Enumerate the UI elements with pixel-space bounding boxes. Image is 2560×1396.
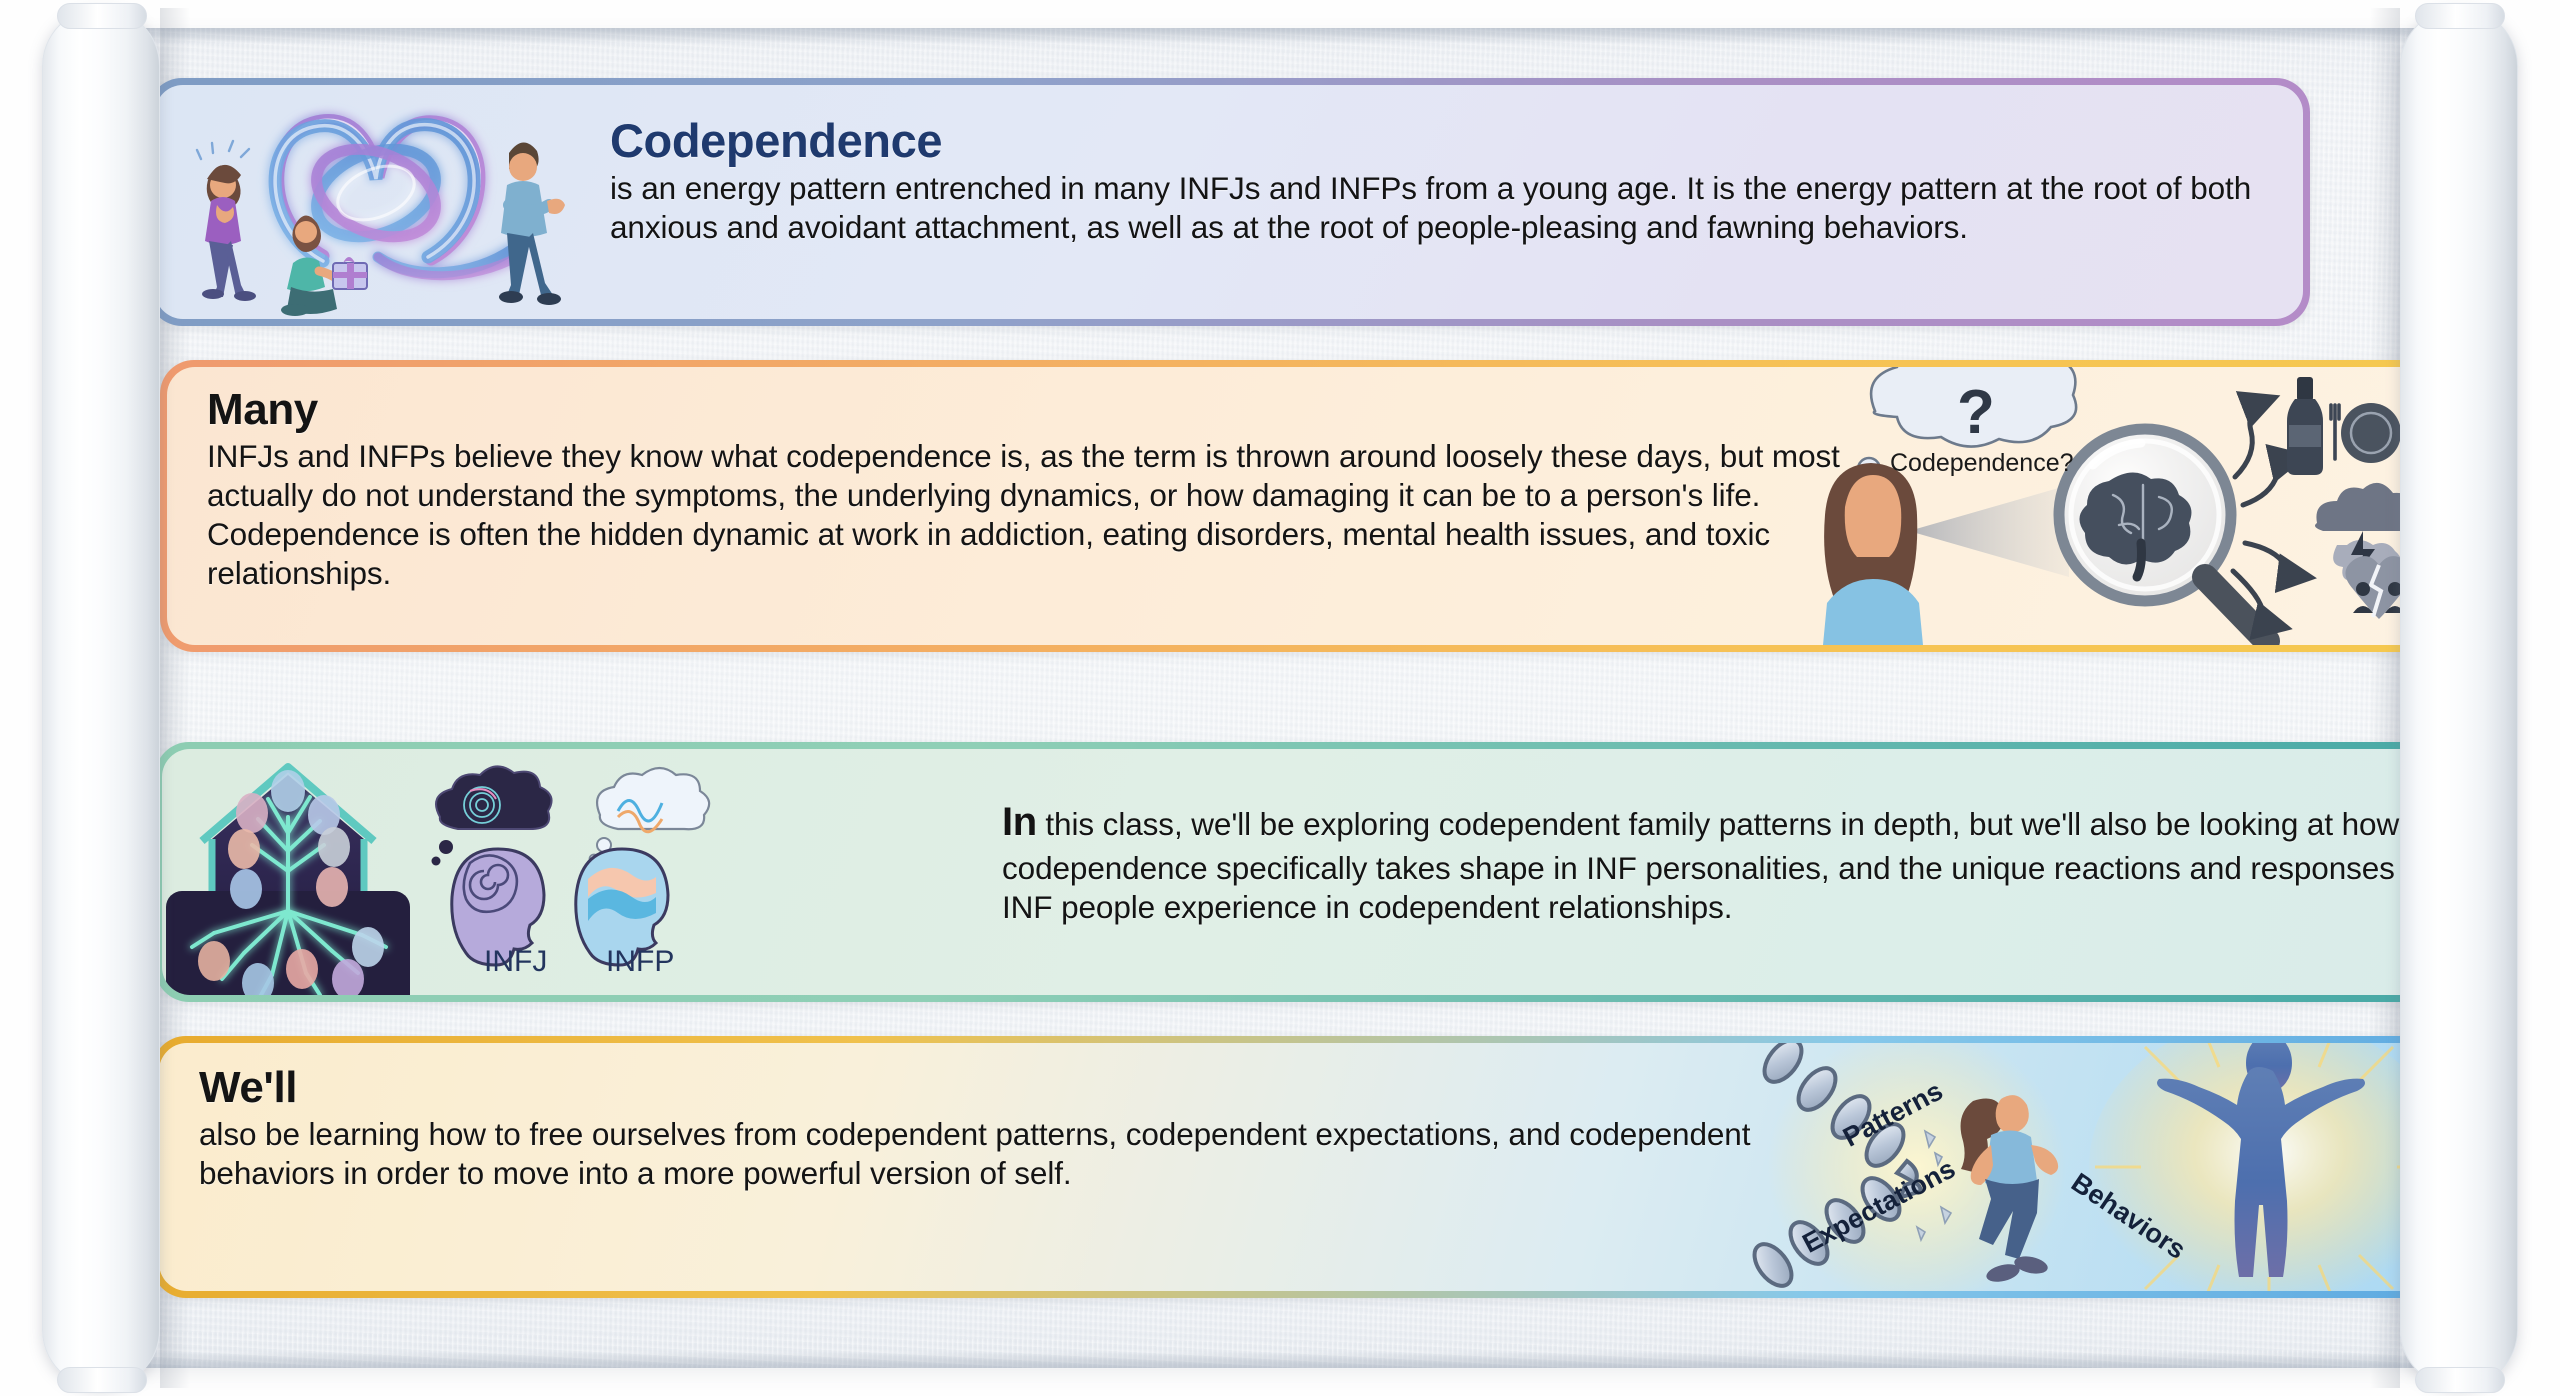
dark-thought-bubble [432,766,552,865]
kneeling-woman-with-gift [281,215,367,316]
light-thought-bubble [590,768,710,864]
panel-3-text: In this class, we'll be exploring codepe… [1002,795,2422,927]
knotted-heart-codependence-illustration [173,85,603,319]
panel-2-background: Many INFJs and INFPs believe they know w… [167,367,2463,645]
infographic-canvas: Codependence is an energy pattern entren… [0,0,2560,1396]
breaking-chains-liberation-illustration [1739,1043,2465,1291]
distressed-woman-figure [197,141,256,301]
paper-bottom-edge [100,1352,2460,1368]
panel-4-text: We'll also be learning how to free ourse… [199,1061,1759,1193]
family-avatars [198,770,384,995]
panel-3-background: INFJ INFP In this class, we'll be explor… [162,749,2448,995]
panel-1-text: Codependence is an energy pattern entren… [610,113,2270,247]
scroll-roller-right [2400,8,2518,1388]
panel-misunderstood-codependence: Many INFJs and INFPs believe they know w… [160,360,2470,652]
thought-bubble-label: Codependence? [1890,449,2074,478]
roller-cap-bottom-left [57,1367,147,1393]
panel-4-background: We'll also be learning how to free ourse… [159,1043,2465,1291]
panel-liberation: We'll also be learning how to free ourse… [152,1036,2472,1298]
roller-cap-bottom-right [2415,1367,2505,1393]
roller-cap-top-right [2415,3,2505,29]
panel-2-text: Many INFJs and INFPs believe they know w… [207,383,1847,593]
chain-label-expectations: Expectations [1798,1153,1961,1259]
infj-profile-label: INFJ [484,945,547,979]
plate-fork-knife-icon [2331,403,2411,463]
chain-label-patterns: Patterns [1838,1075,1948,1153]
panel-3-body: this class, we'll be exploring codepende… [1002,806,2399,925]
magnifying-glass-brain-symptoms-illustration [1797,367,2457,645]
panel-class-overview: INFJ INFP In this class, we'll be explor… [155,742,2455,1002]
panel-2-body: INFJs and INFPs believe they know what c… [207,438,1840,591]
panel-4-body: also be learning how to free ourselves f… [199,1116,1750,1191]
chain-label-behaviors: Behaviors [2065,1167,2191,1266]
symptom-arrows [2233,399,2307,627]
infp-profile-label: INFP [606,945,674,979]
man-crossed-arms-rejecting [499,142,565,305]
brain-icon [2079,472,2191,577]
panel-1-body: is an energy pattern entrenched in many … [610,170,2251,245]
scroll-roller-left [42,8,160,1388]
thought-bubble-question-mark: ? [1957,377,1995,448]
panel-codependence-definition: Codependence is an energy pattern entren… [148,78,2310,326]
wine-bottle-icon [2287,377,2323,475]
panel-4-lead-word: We'll [199,1061,1759,1115]
roller-cap-top-left [57,3,147,29]
magnifying-glass [2059,429,2267,641]
panel-1-background: Codependence is an energy pattern entren… [155,85,2303,319]
paper-top-edge [100,28,2460,44]
panel-2-lead-word: Many [207,383,1847,437]
panel-3-lead-word: In [1002,800,1037,844]
panel-1-lead-word: Codependence [610,113,2270,169]
walking-woman-figure [1961,1095,2059,1285]
